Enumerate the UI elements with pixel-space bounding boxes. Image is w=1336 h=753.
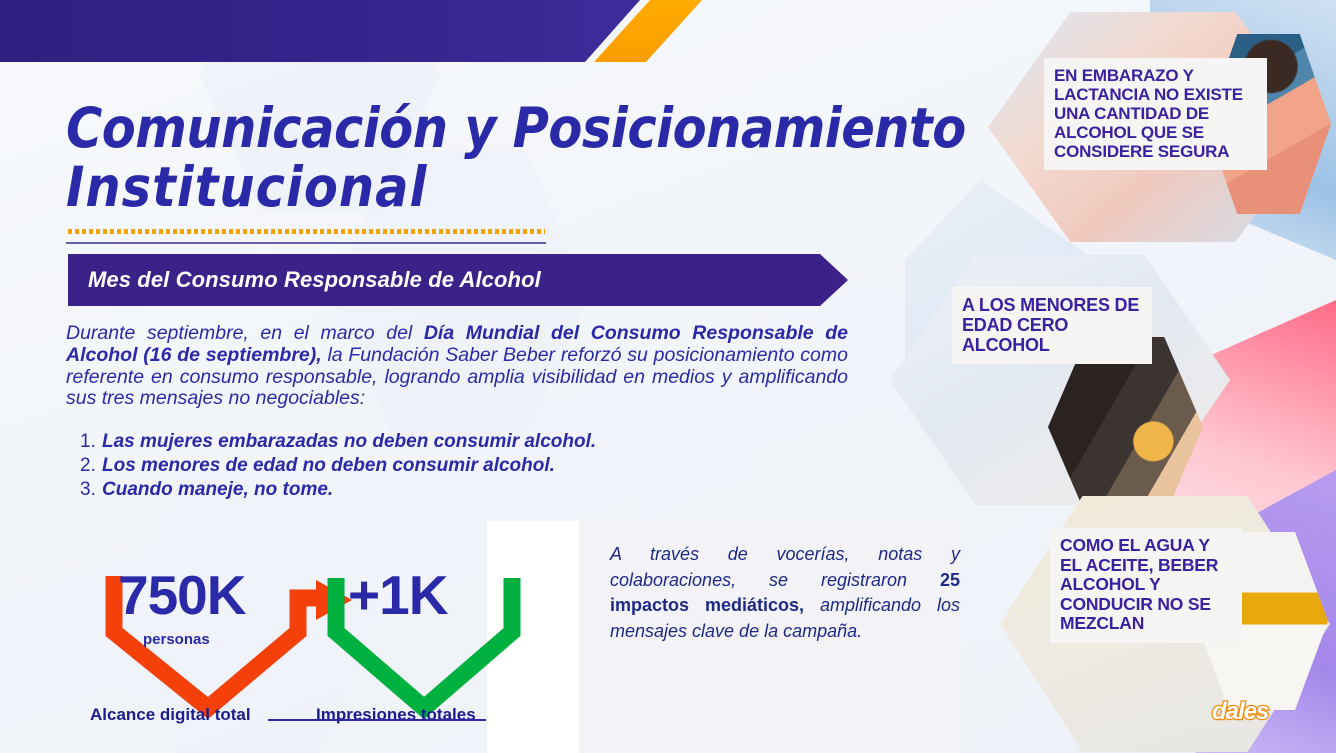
list-item: 2. Los menores de edad no deben consumir… (80, 454, 780, 478)
key-messages-list: 1. Las mujeres embarazadas no deben cons… (80, 430, 780, 501)
page-title-line1: Comunicación y Posicionamiento (66, 99, 996, 158)
list-item: 3. Cuando maneje, no tome. (80, 478, 780, 502)
card-text-driving: COMO EL AGUA Y EL ACEITE, BEBER ALCOHOL … (1050, 528, 1242, 643)
list-item: 1. Las mujeres embarazadas no deben cons… (80, 430, 780, 454)
title-solid-rule (66, 242, 546, 244)
stat-caption-reach: Alcance digital total (90, 705, 251, 725)
list-item-label: Las mujeres embarazadas no deben consumi… (102, 430, 596, 454)
stat-value-impressions: +1K (348, 568, 447, 623)
list-item-number: 1. (80, 430, 102, 454)
stat-subtitle-reach: personas (143, 631, 210, 648)
intro-paragraph: Durante septiembre, en el marco del Día … (66, 323, 848, 410)
media-note-part1: A través de vocerías, notas y colaboraci… (610, 544, 960, 590)
card-text-pregnancy: EN EMBARAZO Y LACTANCIA NO EXISTE UNA CA… (1044, 58, 1267, 170)
section-banner: Mes del Consumo Responsable de Alcohol (68, 254, 848, 306)
title-dotted-rule (68, 229, 545, 234)
list-item-label: Cuando maneje, no tome. (102, 478, 333, 502)
stat-caption-underline (268, 719, 486, 721)
stat-caption-impressions: Impresiones totales (316, 705, 476, 725)
page-title-line2: Institucional (66, 158, 996, 217)
top-purple-band (0, 0, 640, 62)
page-title: Comunicación y Posicionamiento Instituci… (66, 99, 996, 218)
dales-logo: dales (1212, 698, 1268, 726)
list-item-number: 3. (80, 478, 102, 502)
message-card-pregnancy: EN EMBARAZO Y LACTANCIA NO EXISTE UNA CA… (988, 12, 1318, 242)
list-item-label: Los menores de edad no deben consumir al… (102, 454, 555, 478)
message-card-minors: A LOS MENORES DE EDAD CERO ALCOHOL (890, 255, 1230, 505)
message-card-driving: COMO EL AGUA Y EL ACEITE, BEBER ALCOHOL … (1000, 496, 1330, 752)
slide-canvas: Comunicación y Posicionamiento Instituci… (0, 0, 1336, 753)
media-impact-paragraph: A través de vocerías, notas y colaboraci… (610, 542, 960, 644)
card-text-minors: A LOS MENORES DE EDAD CERO ALCOHOL (952, 287, 1152, 364)
intro-text-part1: Durante septiembre, en el marco del (66, 322, 424, 344)
stat-value-reach: 750K (118, 568, 245, 623)
list-item-number: 2. (80, 454, 102, 478)
section-banner-label: Mes del Consumo Responsable de Alcohol (88, 267, 541, 293)
